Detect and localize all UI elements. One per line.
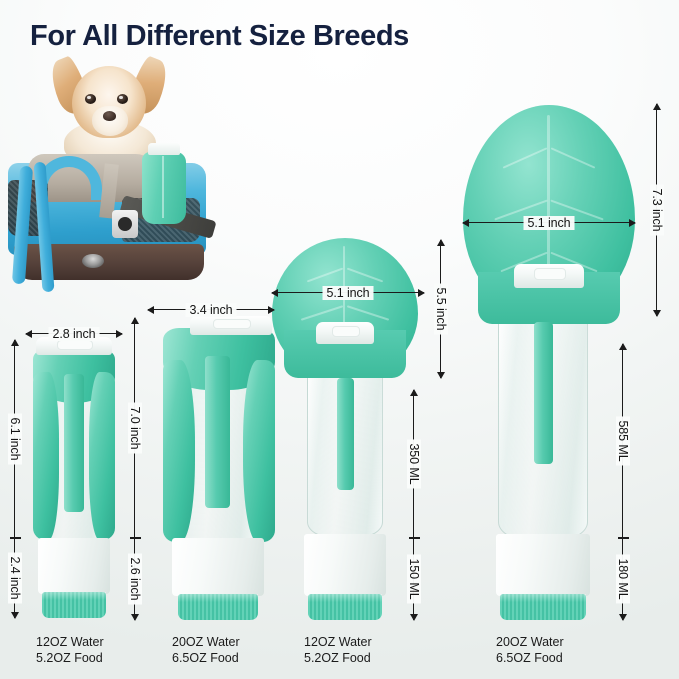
bottle-4-bottom-cap: [500, 594, 586, 620]
bottle-4-leaf-vein-1: [503, 147, 548, 168]
bottle-1-height-dimension-line: 6.1 inch: [14, 340, 15, 538]
bottle-3-food-capacity-dimension-line: 150 ML: [413, 538, 414, 620]
bottle-4-leaf-width-dimension-line: 5.1 inch: [463, 222, 635, 223]
bottle-2-folded-leaf-left: [163, 360, 195, 542]
bottle-3-caption: 12OZ Water 5.2OZ Food: [304, 634, 372, 666]
bottle-4-leaf-height-label: 7.3 inch: [650, 185, 664, 236]
bottle-1-bottom-cap: [42, 592, 106, 618]
bottle-1-base-dimension-line: 2.4 inch: [14, 538, 15, 618]
bottle-3-bottom-cap: [308, 594, 382, 620]
bottle-3-leaf-vein-4: [347, 305, 389, 320]
bottle-1-width-label: 2.8 inch: [49, 327, 100, 341]
bottle-2-width-dimension-line: 3.4 inch: [148, 309, 274, 310]
bottle-3-water-capacity-dimension-line: 350 ML: [413, 390, 414, 538]
bottle-1-folded-leaf-right: [89, 372, 115, 540]
bottle-3-water-capacity-label: 350 ML: [407, 439, 421, 488]
bottle-1-food-container: [38, 538, 110, 594]
bottle-1-folded-leaf-left: [33, 372, 59, 540]
bottle-3-food-capacity-label: 150 ML: [407, 554, 421, 603]
bottle-1-base-label: 2.4 inch: [8, 553, 22, 604]
bottle-4-carry-strap: [534, 322, 553, 464]
carrier-buckle-icon: [112, 210, 138, 238]
chihuahua-in-pet-carrier-photo: [2, 58, 217, 293]
dog-eye-left-icon: [85, 94, 96, 104]
bottle-2-food-container: [172, 538, 264, 596]
bottle-2-caption: 20OZ Water 6.5OZ Food: [172, 634, 240, 666]
bottle-3-leaf-height-dimension-line: 5.5 inch: [440, 240, 441, 378]
bottle-3-leaf-width-label: 5.1 inch: [323, 286, 374, 300]
bottle-3-leaf-width-dimension-line: 5.1 inch: [272, 292, 424, 293]
bottle-4-leaf-vein-2: [551, 147, 596, 168]
bottle-4-food-capacity-label: 180 ML: [616, 554, 630, 603]
bottle-4-food-capacity-dimension-line: 180 ML: [622, 538, 623, 620]
carrier-pocket-bottle: [142, 152, 186, 224]
bottle-3-cap: [316, 322, 374, 344]
bottle-1-height-label: 6.1 inch: [8, 414, 22, 465]
bottle-3-food-capacity: 5.2OZ Food: [304, 650, 372, 666]
bottle-2-height-dimension-line: 7.0 inch: [134, 318, 135, 538]
bottle-4-food-container: [496, 534, 590, 596]
dog-eye-right-icon: [117, 94, 128, 104]
bottle-3-water-capacity: 12OZ Water: [304, 634, 372, 650]
bottle-4-leaf-height-dimension-line: 7.3 inch: [656, 104, 657, 316]
bottle-2-folded-leaf-right: [243, 360, 275, 542]
bottle-2-food-capacity: 6.5OZ Food: [172, 650, 240, 666]
bottle-4-leaf-width-label: 5.1 inch: [524, 216, 575, 230]
bottle-1-carry-strap: [64, 374, 84, 512]
bottle-2-water-capacity: 20OZ Water: [172, 634, 240, 650]
bottle-2-base-dimension-line: 2.6 inch: [134, 538, 135, 620]
bottle-4-water-capacity: 20OZ Water: [496, 634, 564, 650]
bottle-4-caption: 20OZ Water 6.5OZ Food: [496, 634, 564, 666]
bottle-2-width-label: 3.4 inch: [186, 303, 237, 317]
page-title: For All Different Size Breeds: [30, 20, 409, 53]
bottle-4-food-capacity: 6.5OZ Food: [496, 650, 564, 666]
bottle-3-food-container: [304, 534, 386, 596]
bottle-3-leaf-vein-3: [301, 305, 343, 320]
dog-nose-icon: [103, 111, 116, 121]
bottle-2-bottom-cap: [178, 594, 258, 620]
bottle-3-leaf-vein-1: [307, 268, 343, 283]
bottle-1-water-capacity: 12OZ Water: [36, 634, 104, 650]
bottle-1-food-capacity: 5.2OZ Food: [36, 650, 104, 666]
bottle-1-caption: 12OZ Water 5.2OZ Food: [36, 634, 104, 666]
bottle-2-base-label: 2.6 inch: [128, 554, 142, 605]
bottle-2-cap: [190, 316, 272, 335]
bottle-1-width-dimension-line: 2.8 inch: [26, 333, 122, 334]
bottle-4-water-capacity-label: 585 ML: [616, 416, 630, 465]
infographic-canvas: For All Different Size Breeds: [0, 0, 679, 679]
bottle-3-leaf-height-label: 5.5 inch: [434, 284, 448, 335]
bottle-4-water-capacity-dimension-line: 585 ML: [622, 344, 623, 538]
bottle-2-carry-strap: [205, 356, 230, 508]
bottle-2-height-label: 7.0 inch: [128, 403, 142, 454]
bottle-3-carry-strap: [337, 378, 354, 490]
bottle-4-cap: [514, 264, 584, 288]
bottle-3-leaf-vein-2: [347, 268, 383, 283]
carrier-grommet-icon: [82, 254, 104, 268]
